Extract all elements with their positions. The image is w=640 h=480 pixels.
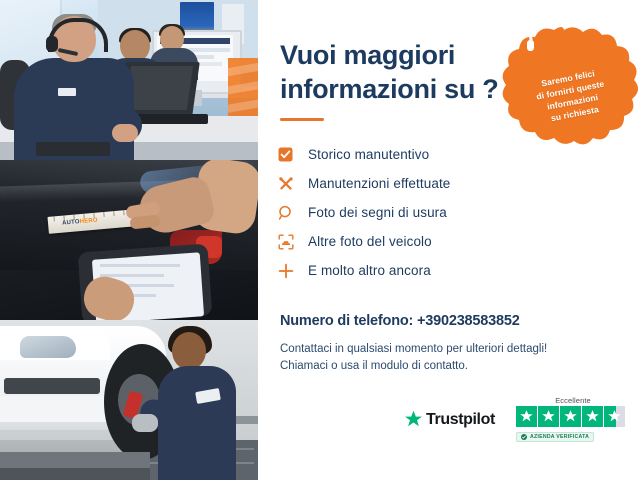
feature-label: E molto altro ancora bbox=[308, 263, 431, 278]
star-partial bbox=[604, 406, 625, 427]
trustpilot-name: Trustpilot bbox=[426, 411, 495, 429]
content-panel: Vuoi maggiori informazioni su ? Saremo f… bbox=[258, 0, 640, 480]
headline-line-2: informazioni su ? bbox=[280, 72, 510, 106]
autohero-info-banner: AUTOHERO bbox=[0, 0, 640, 480]
star-filled bbox=[516, 406, 537, 427]
plus-icon bbox=[278, 263, 308, 279]
verified-business-badge: AZIENDA VERIFICATA bbox=[516, 432, 594, 442]
trustpilot-star-icon bbox=[404, 410, 423, 429]
mechanic-wheel-inspection-photo bbox=[0, 320, 258, 480]
feature-item-storico-manutentivo: Storico manutentivo bbox=[278, 140, 578, 169]
trustpilot-logo: Trustpilot bbox=[404, 410, 495, 429]
page-title: Vuoi maggiori informazioni su ? bbox=[280, 38, 510, 106]
star-filled bbox=[560, 406, 581, 427]
contact-subtext-line-1: Contattaci in qualsiasi momento per ulte… bbox=[280, 341, 610, 358]
feature-item-manutenzioni-effettuate: Manutenzioni effettuate bbox=[278, 169, 578, 198]
star-filled bbox=[582, 406, 603, 427]
verified-check-icon bbox=[521, 434, 527, 440]
star-filled bbox=[538, 406, 559, 427]
call-center-agents-photo bbox=[0, 0, 258, 160]
phone-line: Numero di telefono: +390238583852 bbox=[280, 313, 620, 329]
feature-item-foto-segni-usura: Foto dei segni di usura bbox=[278, 198, 578, 227]
tools-cross-icon bbox=[278, 176, 308, 192]
feature-label: Storico manutentivo bbox=[308, 147, 429, 162]
headline-line-1: Vuoi maggiori bbox=[280, 38, 510, 72]
trustpilot-rating-label: Eccellente bbox=[516, 396, 630, 405]
magnifier-icon bbox=[278, 205, 308, 221]
contact-subtext-line-2: Chiamaci o usa il modulo di contatto. bbox=[280, 358, 610, 375]
photo-strip: AUTOHERO bbox=[0, 0, 258, 480]
feature-label: Altre foto del veicolo bbox=[308, 234, 432, 249]
feature-item-molto-altro: E molto altro ancora bbox=[278, 256, 578, 285]
verified-label: AZIENDA VERIFICATA bbox=[530, 434, 589, 440]
feature-label: Foto dei segni di usura bbox=[308, 205, 447, 220]
autohero-ruler-inspection-photo: AUTOHERO bbox=[0, 160, 258, 320]
car-scan-icon bbox=[278, 234, 308, 250]
checkbox-checked-icon bbox=[278, 147, 308, 162]
feature-item-altre-foto-veicolo: Altre foto del veicolo bbox=[278, 227, 578, 256]
trustpilot-stars bbox=[516, 406, 630, 427]
feature-list: Storico manutentivo Manutenzioni effettu… bbox=[278, 140, 578, 285]
title-divider bbox=[280, 118, 324, 121]
trustpilot-rating: Eccellente bbox=[516, 396, 630, 445]
trustpilot-widget[interactable]: Trustpilot Eccellente bbox=[404, 396, 630, 448]
feature-label: Manutenzioni effettuate bbox=[308, 176, 450, 191]
